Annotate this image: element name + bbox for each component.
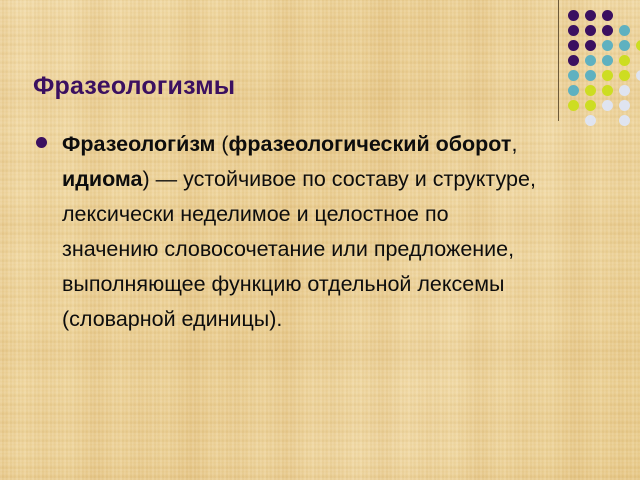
decorative-dot <box>585 70 596 81</box>
bullet-item-text: Фразеологи́зм (фразеологический оборот, … <box>62 127 536 337</box>
decorative-dot <box>602 70 613 81</box>
decorative-dot <box>636 70 640 81</box>
bullet-text-segment: , <box>511 132 517 156</box>
bullet-text-segment: ) — устойчивое по составу и структуре, л… <box>62 167 536 331</box>
decorative-dot-grid <box>548 0 640 130</box>
decorative-dot <box>585 85 596 96</box>
decorative-dot <box>568 40 579 51</box>
bullet-text-bold-segment: Фразеологи́зм <box>62 132 215 156</box>
decorative-dot <box>568 70 579 81</box>
decorative-dot <box>585 100 596 111</box>
bullet-text-bold-segment: фразеологический оборот <box>229 132 512 156</box>
decorative-dot <box>585 25 596 36</box>
decorative-dot <box>602 10 613 21</box>
decorative-dot <box>602 25 613 36</box>
decorative-dot <box>602 85 613 96</box>
decorative-vertical-rule <box>558 0 559 121</box>
decorative-dot <box>568 25 579 36</box>
decorative-dot <box>619 40 630 51</box>
slide-title: Фразеологизмы <box>33 73 533 101</box>
decorative-dot <box>585 10 596 21</box>
decorative-dot <box>619 25 630 36</box>
decorative-dot <box>602 40 613 51</box>
decorative-dot <box>636 40 640 51</box>
decorative-dot <box>568 10 579 21</box>
slide-canvas: Фразеологизмы Фразеологи́зм (фразеологич… <box>0 0 640 480</box>
bullet-list-item: Фразеологи́зм (фразеологический оборот, … <box>30 127 620 337</box>
bullet-marker-icon <box>36 137 47 148</box>
bullet-text-bold-segment: идиома <box>62 167 143 191</box>
slide-body: Фразеологи́зм (фразеологический оборот, … <box>30 127 620 337</box>
decorative-dot <box>585 115 596 126</box>
decorative-dot <box>602 100 613 111</box>
decorative-dot <box>619 100 630 111</box>
decorative-dot <box>619 70 630 81</box>
decorative-dot <box>568 55 579 66</box>
decorative-dot <box>619 85 630 96</box>
decorative-dot <box>619 55 630 66</box>
decorative-dot <box>619 115 630 126</box>
decorative-dot <box>602 55 613 66</box>
bullet-text-segment: ( <box>215 132 228 156</box>
decorative-dot <box>568 100 579 111</box>
decorative-dot <box>585 40 596 51</box>
decorative-dot <box>568 85 579 96</box>
decorative-dot <box>585 55 596 66</box>
